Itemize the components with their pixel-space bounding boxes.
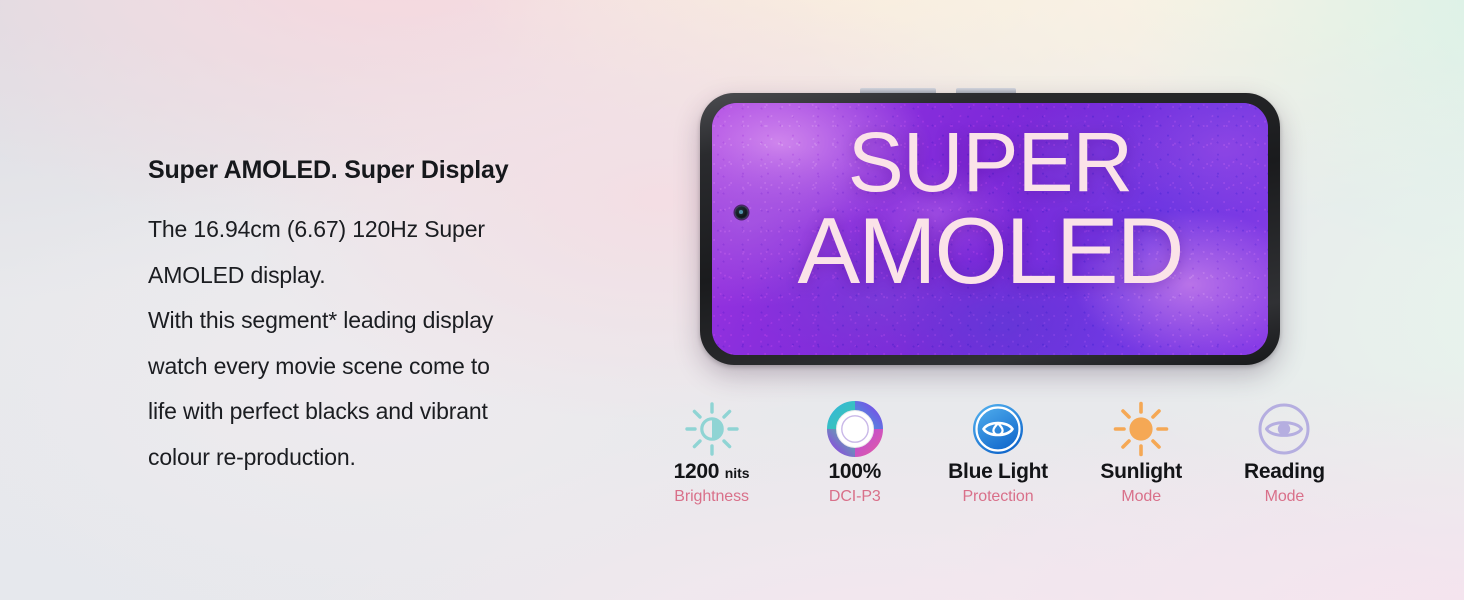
copy-block: Super AMOLED. Super Display The 16.94cm … bbox=[148, 155, 648, 480]
phone-mockup: SUPER AMOLED bbox=[700, 88, 1282, 370]
description-line: colour re-production. bbox=[148, 435, 648, 481]
phone-body: SUPER AMOLED bbox=[700, 93, 1280, 365]
feature-value: 1200 nits bbox=[640, 460, 783, 484]
description-line: AMOLED display. bbox=[148, 253, 648, 299]
screen-headline-line1: SUPER bbox=[848, 115, 1132, 209]
brightness-sun-icon bbox=[640, 398, 783, 460]
feature-sublabel: Mode bbox=[1213, 488, 1356, 506]
feature-value: 100% bbox=[783, 460, 926, 484]
feature-value: Blue Light bbox=[926, 460, 1069, 484]
feature-brightness: 1200 nits Brightness bbox=[640, 398, 783, 506]
description-line: watch every movie scene come to bbox=[148, 344, 648, 390]
description-paragraph: The 16.94cm (6.67) 120Hz Super AMOLED di… bbox=[148, 207, 648, 480]
blue-light-eye-icon bbox=[926, 398, 1069, 460]
feature-sublabel: Mode bbox=[1070, 488, 1213, 506]
feature-unit: nits bbox=[725, 465, 750, 481]
feature-number: 1200 bbox=[674, 460, 720, 483]
feature-strip: 1200 nits Brightness bbox=[640, 398, 1356, 506]
feature-blue-light: Blue Light Protection bbox=[926, 398, 1069, 506]
reading-eye-icon bbox=[1213, 398, 1356, 460]
description-line: life with perfect blacks and vibrant bbox=[148, 389, 648, 435]
feature-value: Sunlight bbox=[1070, 460, 1213, 484]
description-line: The 16.94cm (6.67) 120Hz Super bbox=[148, 207, 648, 253]
page-title: Super AMOLED. Super Display bbox=[148, 155, 648, 185]
product-banner: Super AMOLED. Super Display The 16.94cm … bbox=[0, 0, 1464, 600]
screen-headline-line2: AMOLED bbox=[738, 204, 1242, 297]
feature-sublabel: Protection bbox=[926, 488, 1069, 506]
feature-dci-p3: 100% DCI-P3 bbox=[783, 398, 926, 506]
feature-sublabel: DCI-P3 bbox=[783, 488, 926, 506]
feature-value: Reading bbox=[1213, 460, 1356, 484]
sunlight-sun-icon bbox=[1070, 398, 1213, 460]
feature-sunlight: Sunlight Mode bbox=[1070, 398, 1213, 506]
phone-screen: SUPER AMOLED bbox=[712, 103, 1268, 355]
feature-sublabel: Brightness bbox=[640, 488, 783, 506]
description-line: With this segment* leading display bbox=[148, 298, 648, 344]
color-gamut-ring-icon bbox=[783, 398, 926, 460]
feature-reading: Reading Mode bbox=[1213, 398, 1356, 506]
screen-headline: SUPER AMOLED bbox=[712, 121, 1268, 297]
